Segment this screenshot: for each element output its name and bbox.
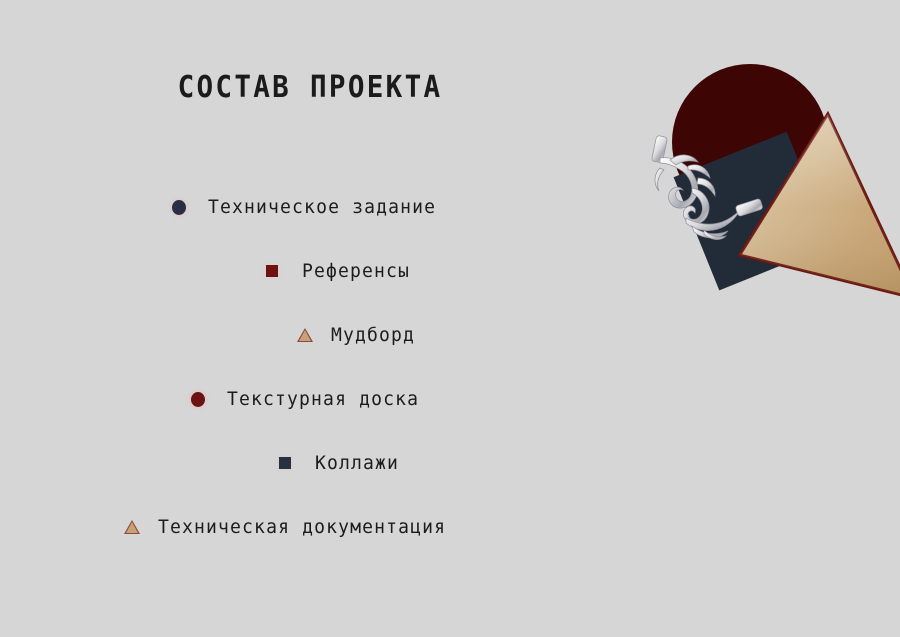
project-contents-list: Техническое задание Референсы Мудборд Те… — [0, 175, 620, 559]
slide-canvas: СОСТАВ ПРОЕКТА Техническое задание Рефер… — [0, 0, 900, 637]
list-item-label: Текстурная доска — [227, 388, 419, 410]
list-item-label: Техническое задание — [208, 196, 436, 218]
list-item-label: Референсы — [302, 260, 410, 282]
circle-navy-bullet-icon — [172, 200, 186, 215]
list-item: Техническая документация — [0, 495, 620, 559]
list-item: Текстурная доска — [0, 367, 620, 431]
list-item-label: Мудборд — [331, 324, 415, 346]
page-title: СОСТАВ ПРОЕКТА — [25, 70, 595, 105]
square-navy-bullet-icon — [279, 457, 291, 469]
list-item-label: Коллажи — [315, 452, 399, 474]
list-item: Мудборд — [0, 303, 620, 367]
triangle-tan-bullet-icon — [297, 328, 313, 342]
list-item: Техническое задание — [0, 175, 620, 239]
list-item-label: Техническая документация — [158, 516, 446, 538]
silver-scroll-ornament-icon — [640, 130, 770, 260]
list-item: Референсы — [0, 239, 620, 303]
square-darkred-bullet-icon — [266, 265, 278, 277]
circle-darkred-bullet-icon — [191, 392, 205, 407]
geometric-collage-graphic — [620, 50, 900, 330]
list-item: Коллажи — [0, 431, 620, 495]
triangle-tan-bullet-icon — [124, 520, 140, 534]
